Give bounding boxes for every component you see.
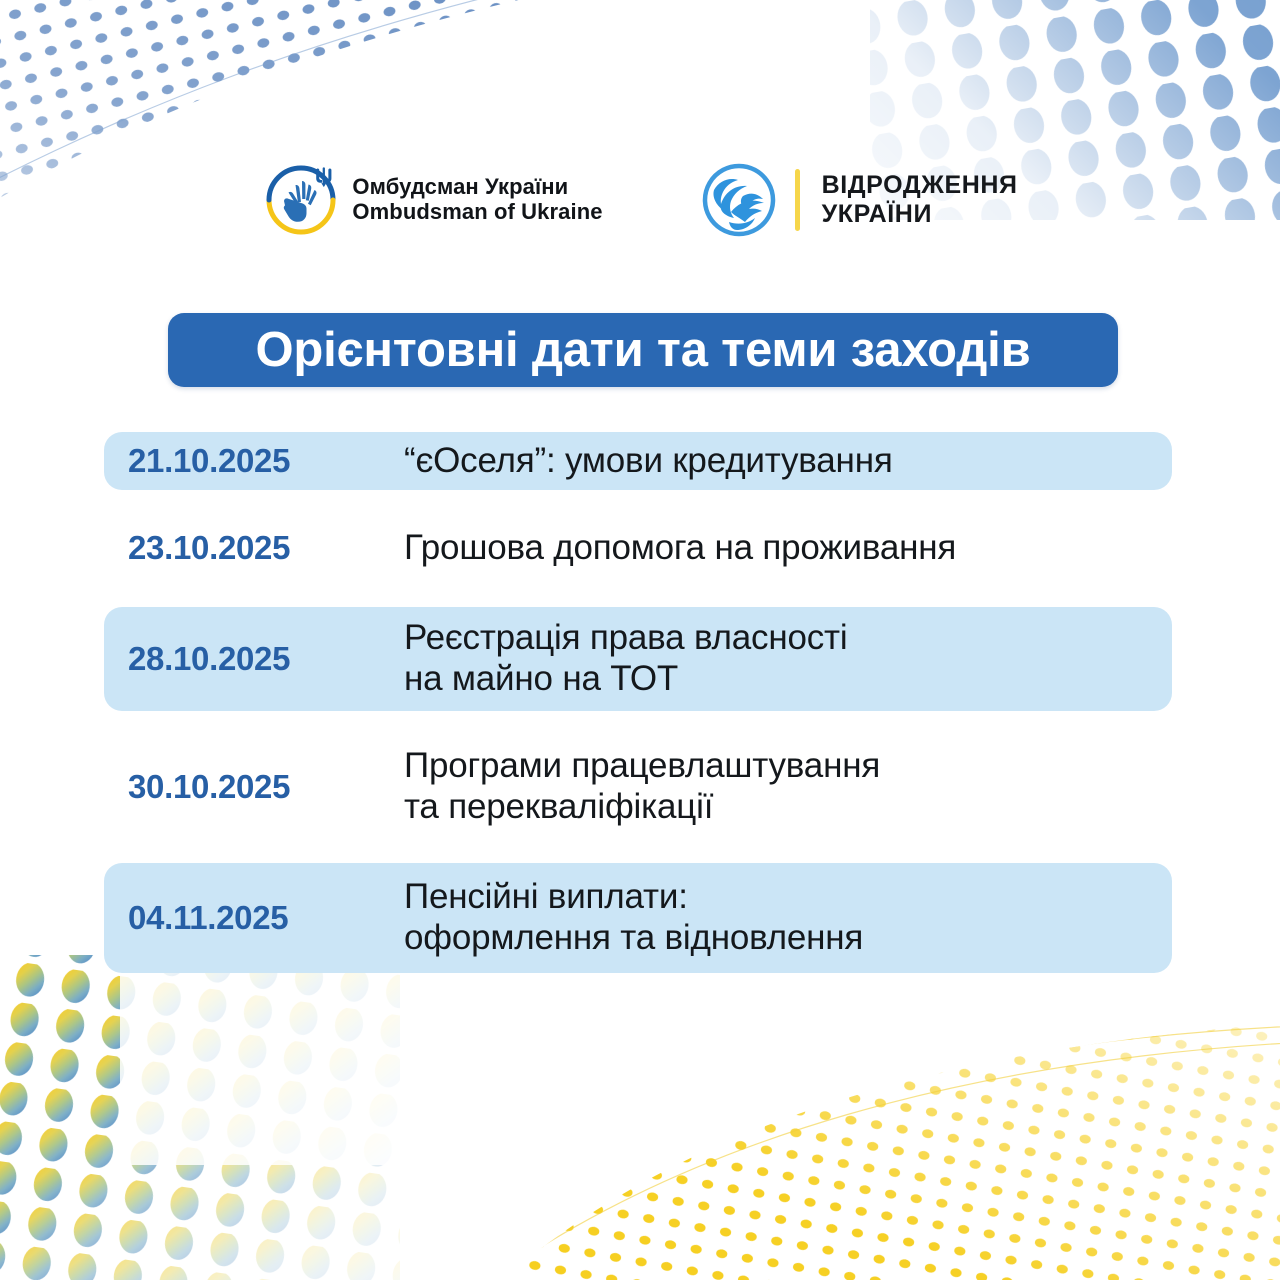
schedule-row: 23.10.2025 Грошова допомога на проживанн…	[104, 519, 1172, 577]
revival-name-line1: ВІДРОДЖЕННЯ	[822, 171, 1018, 200]
ombudsman-logo-text: Омбудсман України Ombudsman of Ukraine	[352, 175, 602, 224]
row-topic-line: “єОселя”: умови кредитування	[404, 441, 1172, 482]
revival-logo: ВІДРОДЖЕННЯ УКРАЇНИ	[699, 160, 1018, 240]
revival-logo-text: ВІДРОДЖЕННЯ УКРАЇНИ	[822, 171, 1018, 229]
ombudsman-name-uk: Омбудсман України	[352, 175, 602, 200]
row-topic: Реєстрація права власності на майно на Т…	[404, 618, 1172, 700]
revival-name-line2: УКРАЇНИ	[822, 200, 1018, 229]
poster-canvas: Омбудсман України Ombudsman of Ukraine В…	[0, 0, 1280, 1280]
page-title: Орієнтовні дати та теми заходів	[255, 326, 1030, 375]
row-date: 04.11.2025	[128, 899, 404, 937]
schedule-row: 30.10.2025 Програми працевлаштування та …	[104, 735, 1172, 839]
row-date: 28.10.2025	[128, 640, 404, 678]
title-banner: Орієнтовні дати та теми заходів	[168, 313, 1118, 387]
row-topic-line: Програми працевлаштування	[404, 746, 1172, 787]
row-topic-line: Грошова допомога на проживання	[404, 528, 1172, 569]
ombudsman-name-en: Ombudsman of Ukraine	[352, 200, 602, 225]
schedule-list: 21.10.2025 “єОселя”: умови кредитування …	[104, 432, 1172, 973]
schedule-row: 04.11.2025 Пенсійні виплати: оформлення …	[104, 863, 1172, 973]
logo-divider	[795, 169, 800, 231]
row-date: 23.10.2025	[128, 529, 404, 567]
row-topic: Пенсійні виплати: оформлення та відновле…	[404, 877, 1172, 959]
row-topic-line: оформлення та відновлення	[404, 918, 1172, 959]
phoenix-bird-logo-icon	[699, 160, 779, 240]
row-date: 21.10.2025	[128, 442, 404, 480]
ombudsman-logo: Омбудсман України Ombudsman of Ukraine	[262, 161, 602, 239]
row-topic: Грошова допомога на проживання	[404, 528, 1172, 569]
decor-bottom-left-gradient-ellipse-grid	[0, 955, 400, 1280]
decor-bottom-right-yellow-dotted-wave	[520, 1010, 1280, 1280]
row-topic: “єОселя”: умови кредитування	[404, 441, 1172, 482]
row-topic-line: Реєстрація права власності	[404, 618, 1172, 659]
header-logos: Омбудсман України Ombudsman of Ukraine В…	[0, 160, 1280, 240]
row-date: 30.10.2025	[128, 768, 404, 806]
schedule-row: 21.10.2025 “єОселя”: умови кредитування	[104, 432, 1172, 490]
schedule-row: 28.10.2025 Реєстрація права власності на…	[104, 607, 1172, 711]
row-topic-line: та перекваліфікації	[404, 787, 1172, 828]
ombudsman-dove-hand-logo-icon	[262, 161, 340, 239]
row-topic: Програми працевлаштування та перекваліфі…	[404, 746, 1172, 828]
row-topic-line: на майно на ТОТ	[404, 659, 1172, 700]
row-topic-line: Пенсійні виплати:	[404, 877, 1172, 918]
